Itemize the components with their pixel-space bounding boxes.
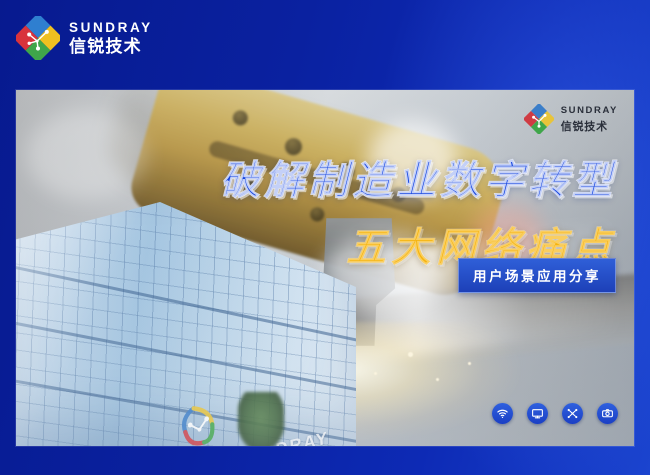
sundray-diamond-logo-icon — [524, 104, 554, 134]
brand-name-en: SUNDRAY — [69, 21, 153, 35]
tree — [238, 392, 284, 446]
poster-brand: SUNDRAY 信锐技术 — [524, 104, 618, 134]
feature-icon-row — [492, 403, 618, 424]
header-brand[interactable]: SUNDRAY 信锐技术 — [16, 14, 153, 62]
wifi-icon[interactable] — [492, 403, 513, 424]
network-nodes-icon[interactable] — [562, 403, 583, 424]
poster-image-panel[interactable]: SUNDRAY 信锐技术 — [16, 90, 634, 446]
glass-office-building: SUNDRAY 信锐技术 — [16, 202, 356, 446]
spark — [436, 378, 439, 381]
spark — [468, 362, 471, 365]
header-brand-text: SUNDRAY 信锐技术 — [69, 21, 153, 55]
sundray-diamond-logo-icon — [16, 16, 60, 60]
display-screen-icon[interactable] — [527, 403, 548, 424]
subtitle-badge: 用户场景应用分享 — [458, 258, 616, 293]
poster-brand-text: SUNDRAY 信锐技术 — [561, 105, 618, 134]
spark — [408, 352, 413, 357]
camera-icon[interactable] — [597, 403, 618, 424]
poster-brand-cn: 信锐技术 — [561, 118, 618, 134]
brand-name-cn: 信锐技术 — [69, 38, 153, 55]
poster-brand-en: SUNDRAY — [561, 105, 618, 116]
spark — [374, 372, 377, 375]
